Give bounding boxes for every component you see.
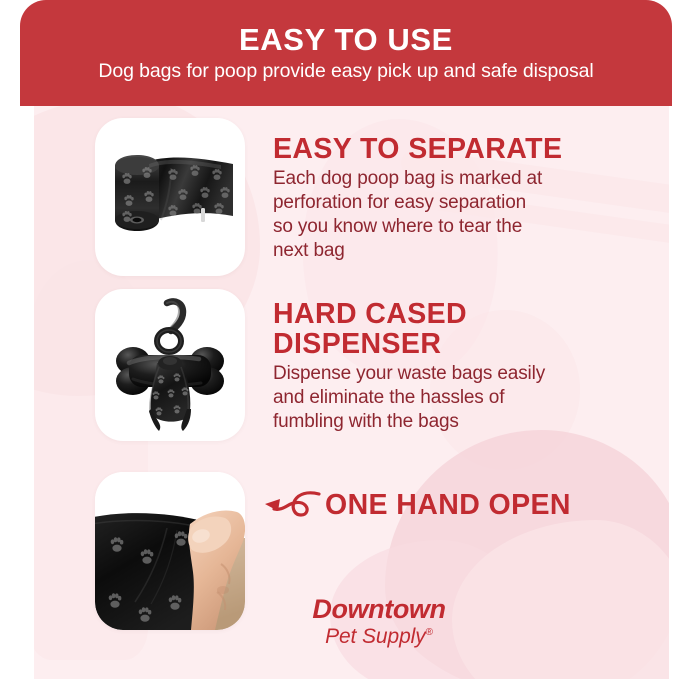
bone-dispenser-illustration	[109, 297, 233, 435]
hand-opening-bag-illustration	[95, 472, 245, 630]
feature-row-hard-cased-dispenser: HARD CASED DISPENSER Dispense your waste…	[95, 289, 638, 441]
feature-heading-1: EASY TO SEPARATE	[273, 134, 638, 164]
brand-name-secondary-text: Pet Supply	[325, 625, 426, 648]
feature-body-1: Each dog poop bag is marked at perforati…	[273, 167, 638, 263]
page-title: EASY TO USE	[239, 24, 453, 57]
bag-roll-illustration	[101, 148, 245, 244]
page-subtitle: Dog bags for poop provide easy pick up a…	[98, 61, 593, 82]
brand-name-primary: Downtown	[264, 596, 494, 623]
feature-heading-3: ONE HAND OPEN	[325, 491, 571, 520]
curly-left-arrow-icon	[261, 482, 323, 528]
feature-text-2: HARD CASED DISPENSER Dispense your waste…	[273, 289, 638, 434]
header-banner: EASY TO USE Dog bags for poop provide ea…	[20, 0, 672, 106]
feature-image-card-3	[95, 472, 245, 630]
brand-logo: Downtown Pet Supply®	[264, 596, 494, 648]
feature-row-easy-to-separate: EASY TO SEPARATE Each dog poop bag is ma…	[95, 118, 638, 276]
feature-text-1: EASY TO SEPARATE Each dog poop bag is ma…	[273, 118, 638, 263]
brand-name-secondary: Pet Supply®	[264, 625, 494, 648]
registered-trademark-icon: ®	[426, 627, 433, 638]
feature-text-3: ONE HAND OPEN	[261, 472, 571, 528]
infographic-root: EASY TO USE Dog bags for poop provide ea…	[0, 0, 679, 679]
feature-image-card-1	[95, 118, 245, 276]
feature-image-card-2	[95, 289, 245, 441]
bag-roll-photo	[101, 148, 245, 244]
bone-dispenser-photo	[109, 297, 233, 435]
feature-heading-2: HARD CASED DISPENSER	[273, 299, 638, 359]
feature-body-2: Dispense your waste bags easily and elim…	[273, 362, 638, 434]
hand-opening-bag-photo	[95, 472, 245, 630]
